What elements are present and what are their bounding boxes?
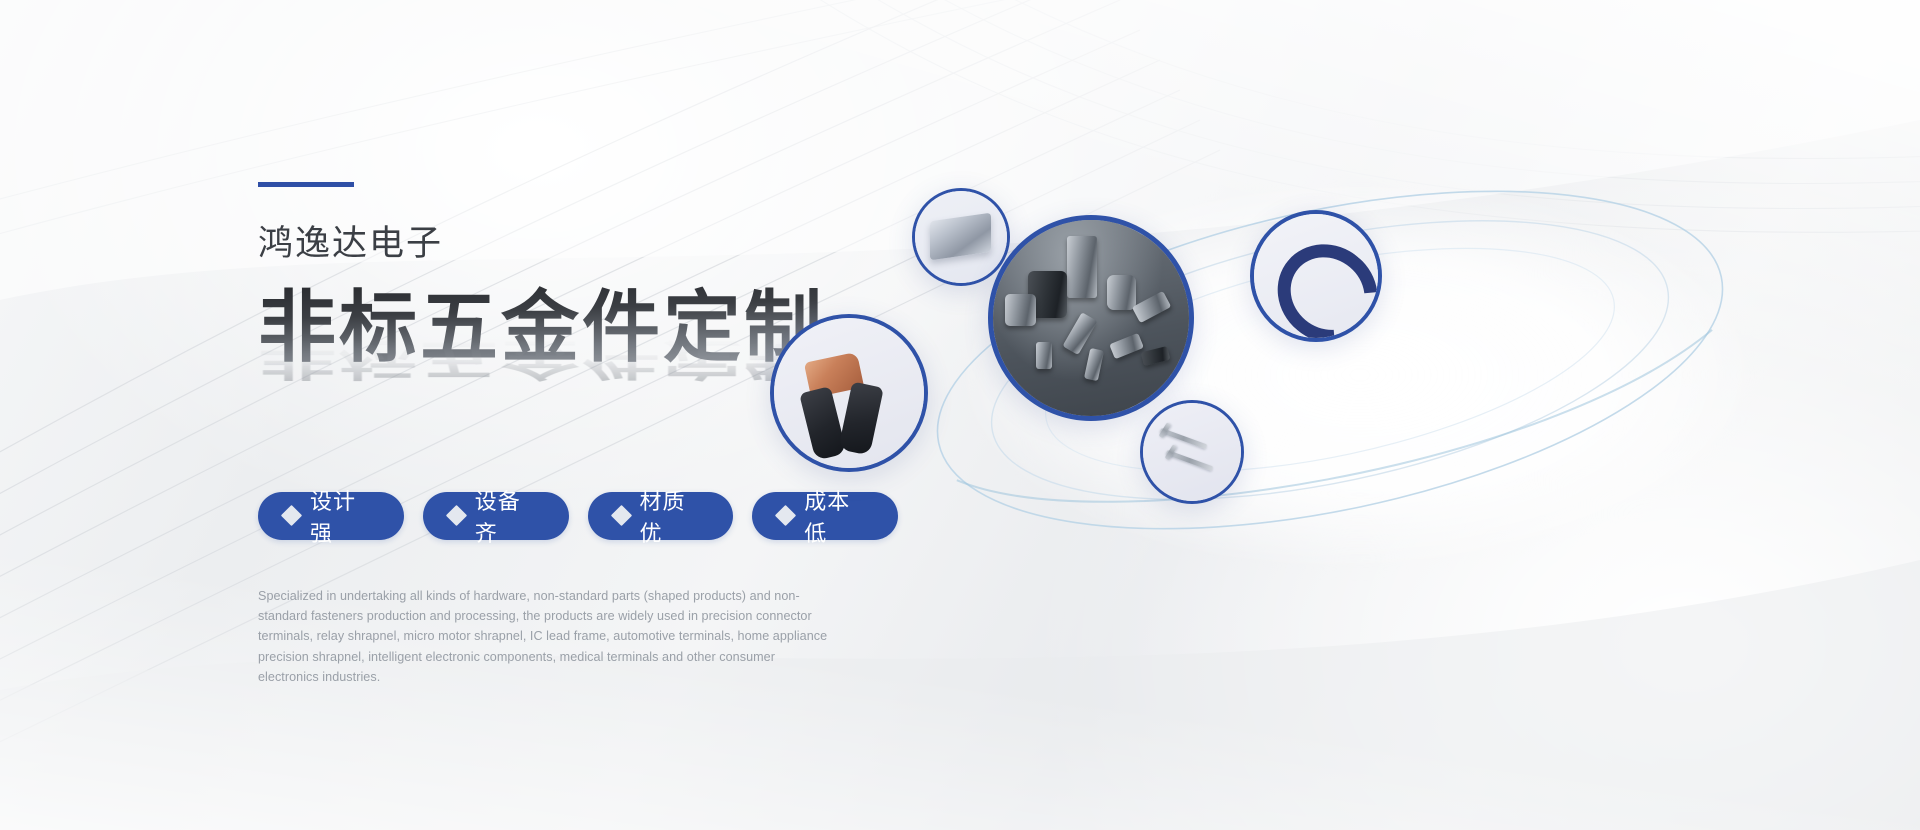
diamond-icon xyxy=(446,505,467,526)
blue-retaining-clip-image xyxy=(1254,214,1378,338)
bent-terminal-pins-image xyxy=(1143,403,1241,501)
metal-part xyxy=(1141,346,1171,366)
accent-rule xyxy=(258,182,354,187)
diamond-icon xyxy=(610,505,631,526)
metal-part xyxy=(1109,332,1144,358)
diamond-icon xyxy=(775,505,796,526)
copper-alligator-clip-image xyxy=(774,318,924,468)
feature-badge-material[interactable]: 材质优 xyxy=(588,492,734,540)
metal-part xyxy=(1084,348,1104,382)
metal-part xyxy=(1132,291,1171,323)
enclosure-body xyxy=(930,212,991,259)
feature-badge-label: 设计强 xyxy=(310,484,378,548)
product-visual xyxy=(900,110,1910,630)
product-circle-machined-metal-parts[interactable] xyxy=(988,215,1194,421)
metal-part xyxy=(1107,275,1136,310)
feature-badge-label: 材质优 xyxy=(640,484,708,548)
feature-badge-equipment[interactable]: 设备齐 xyxy=(423,492,569,540)
feature-badge-cost[interactable]: 成本低 xyxy=(752,492,898,540)
retaining-clip-shape xyxy=(1258,224,1382,342)
metal-part xyxy=(1036,342,1052,369)
clip-grip-left xyxy=(799,386,846,461)
feature-badge-label: 设备齐 xyxy=(475,484,543,548)
feature-badge-list: 设计强 设备齐 材质优 成本低 xyxy=(258,492,898,540)
brand-name: 鸿逸达电子 xyxy=(258,225,898,264)
clip-grip-right xyxy=(838,381,883,455)
hero-banner: 鸿逸达电子 非标五金件定制 非标五金件定制 设计强 设备齐 材质优 成本低 xyxy=(0,0,1920,830)
feature-badge-design[interactable]: 设计强 xyxy=(258,492,404,540)
product-circle-blue-retaining-clip[interactable] xyxy=(1250,210,1382,342)
feature-badge-label: 成本低 xyxy=(804,484,872,548)
machined-metal-parts-image xyxy=(993,220,1189,416)
diamond-icon xyxy=(281,505,302,526)
product-circle-copper-alligator-clip[interactable] xyxy=(770,314,928,472)
product-circle-bent-terminal-pins[interactable] xyxy=(1140,400,1244,504)
metal-part xyxy=(1005,294,1036,325)
metal-part xyxy=(1067,236,1096,299)
company-description: Specialized in undertaking all kinds of … xyxy=(258,586,830,688)
